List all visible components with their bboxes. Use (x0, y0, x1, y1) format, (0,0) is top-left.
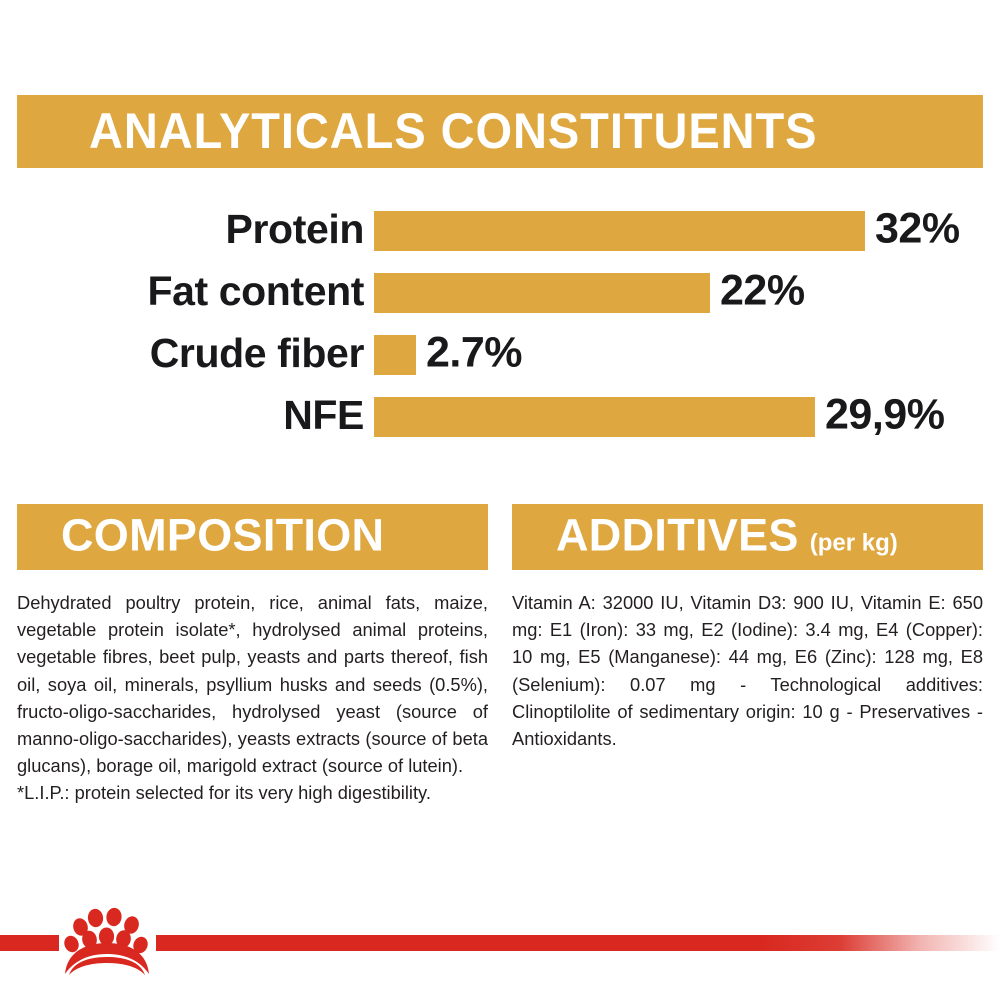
bar-row: Crude fiber 2.7% (0, 324, 1000, 386)
additives-subheading: (per kg) (810, 532, 898, 556)
bar-row: Protein 32% (0, 200, 1000, 262)
bar-row: Fat content 22% (0, 262, 1000, 324)
additives-header: ADDITIVES (per kg) (512, 504, 983, 570)
composition-header: COMPOSITION (17, 504, 488, 570)
bar-fill: 22% (374, 273, 710, 313)
bar-value: 29,9% (825, 393, 944, 436)
bar-value: 32% (875, 207, 960, 250)
bar-fill: 2.7% (374, 335, 416, 375)
analyticals-constituents-banner: ANALYTICALS CONSTITUENTS (17, 95, 983, 168)
bar-track: 2.7% (374, 335, 416, 375)
royal-canin-crown-icon (60, 905, 156, 975)
bar-label: NFE (283, 395, 364, 436)
bar-value: 2.7% (426, 331, 522, 374)
bar-label: Fat content (147, 271, 364, 312)
composition-panel: COMPOSITION Dehydrated poultry protein, … (17, 504, 488, 807)
bar-row: NFE 29,9% (0, 386, 1000, 448)
composition-text: Dehydrated poultry protein, rice, animal… (17, 589, 488, 779)
additives-header-inner: ADDITIVES (per kg) (556, 513, 898, 558)
additives-panel: ADDITIVES (per kg) Vitamin A: 32000 IU, … (512, 504, 983, 752)
bar-track: 32% (374, 211, 865, 251)
additives-heading: ADDITIVES (556, 513, 799, 558)
analyticals-constituents-title: ANALYTICALS CONSTITUENTS (89, 106, 817, 156)
composition-header-inner: COMPOSITION (61, 513, 384, 558)
bar-label: Protein (226, 209, 364, 250)
bar-track: 22% (374, 273, 710, 313)
bar-fill: 29,9% (374, 397, 815, 437)
bar-value: 22% (720, 269, 805, 312)
bar-track: 29,9% (374, 397, 815, 437)
additives-text: Vitamin A: 32000 IU, Vitamin D3: 900 IU,… (512, 589, 983, 752)
bar-label: Crude fiber (150, 333, 364, 374)
bar-fill: 32% (374, 211, 865, 251)
composition-body: Dehydrated poultry protein, rice, animal… (17, 570, 488, 807)
additives-body: Vitamin A: 32000 IU, Vitamin D3: 900 IU,… (512, 570, 983, 752)
analyticals-bar-chart: Protein 32% Fat content 22% Crude fiber … (0, 200, 1000, 450)
composition-heading: COMPOSITION (61, 513, 384, 558)
nutrition-panel-page: ANALYTICALS CONSTITUENTS Protein 32% Fat… (0, 0, 1000, 1000)
composition-footnote: *L.I.P.: protein selected for its very h… (17, 779, 488, 806)
